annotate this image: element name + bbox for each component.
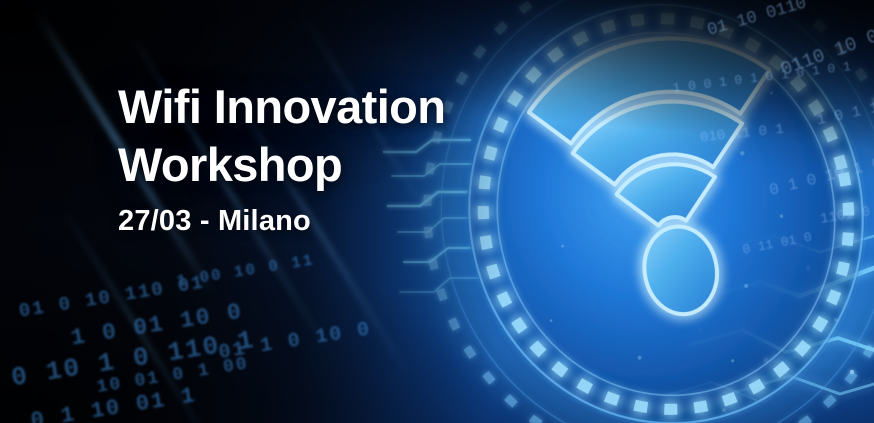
binary-row: 1 00 10 0 11 xyxy=(175,251,315,291)
page-title-line-1: Wifi Innovation xyxy=(118,78,445,136)
banner-text-block: Wifi Innovation Workshop 27/03 - Milano xyxy=(118,78,445,238)
binary-row: 1 0 01 10 0 xyxy=(69,299,245,352)
page-title-line-2: Workshop xyxy=(118,136,445,194)
event-banner: 01 0 10 110 01 1 0 01 10 0 0 10 1 0 110 … xyxy=(0,0,874,423)
code-fragment: 0 1 0 10 1 0 xyxy=(768,154,874,199)
wifi-graphic xyxy=(398,0,874,423)
wifi-sphere-svg xyxy=(398,0,874,423)
code-fragment: 1 0 0 1 0 1 0 1 0 1 0 1 xyxy=(672,59,852,96)
code-fragment: 0 11 01 0 xyxy=(741,229,813,257)
binary-row: 01 0 10 110 01 xyxy=(17,271,206,322)
event-date-location: 27/03 - Milano xyxy=(118,204,445,238)
binary-row: 01 1 0 10 0 xyxy=(217,318,373,365)
binary-row: 0 1 10 01 1 xyxy=(29,383,198,423)
binary-row: 10 01 0 1 00 xyxy=(95,354,250,398)
code-fragment: 01 10 0110 xyxy=(705,0,808,41)
code-fragment: 1 0 1 1 0 xyxy=(815,96,874,129)
binary-row: 0 10 1 0 110 1 xyxy=(9,325,257,393)
code-fragment: 010 11 0 1 xyxy=(699,122,784,147)
code-fragment: 1101 0 10 xyxy=(819,200,874,228)
code-fragment: 0110 10 01 xyxy=(778,21,874,81)
